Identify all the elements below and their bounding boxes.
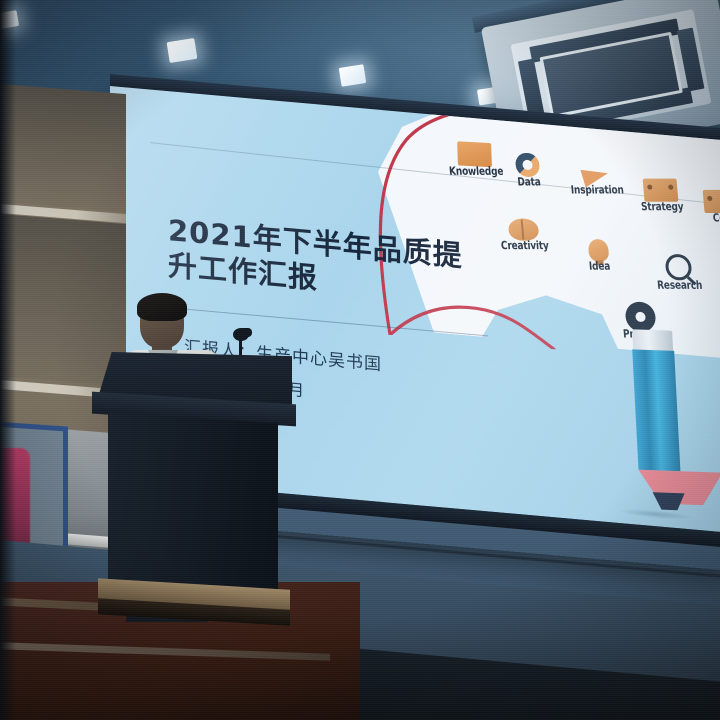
pencil-body (632, 349, 680, 471)
podium-body (108, 413, 278, 599)
gear-icon (628, 305, 654, 329)
presenter-hair (137, 293, 187, 321)
pencil-graphite-tip (653, 492, 686, 510)
slide-icon-label: Knowledge (449, 166, 504, 179)
pencil-graphic (629, 329, 685, 517)
ceiling-light-2 (167, 38, 198, 63)
book-icon (457, 141, 492, 167)
ceiling-light-3 (339, 64, 367, 87)
gooseneck-microphone-icon (231, 328, 251, 356)
slide-icon-label: Data (517, 177, 542, 190)
slide-icon-inspiration: Inspiration (569, 167, 624, 196)
slide-icon-cooperation: Coo (703, 190, 720, 224)
podium (96, 352, 292, 632)
presentation-room-photo: Knowledge Data Inspiration Strategy Coo (0, 0, 720, 720)
magnifier-icon (664, 254, 692, 280)
slide-icon-knowledge: Knowledge (447, 142, 504, 177)
slide-icon-strategy: Strategy (639, 179, 684, 213)
donut-chart-icon (515, 153, 541, 177)
slide-icon-idea: Idea (587, 239, 611, 272)
slide-icon-label: Idea (588, 261, 610, 274)
cut-off-icon (703, 190, 720, 213)
slide-icon-data: Data (515, 153, 542, 188)
left-edge-shadow (0, 0, 16, 720)
slide-icon-label: Coo (705, 213, 720, 226)
wall-shadow-band-1 (0, 84, 126, 212)
brain-icon (507, 218, 539, 240)
slide-icon-label: Inspiration (570, 185, 624, 198)
lightbulb-icon (587, 239, 609, 261)
microphone-flag (242, 328, 252, 337)
slide-icon-label: Research (657, 280, 703, 293)
chest-icon (643, 179, 679, 202)
slide-icon-label: Strategy (641, 201, 684, 214)
slide-icon-research: Research (654, 254, 702, 291)
